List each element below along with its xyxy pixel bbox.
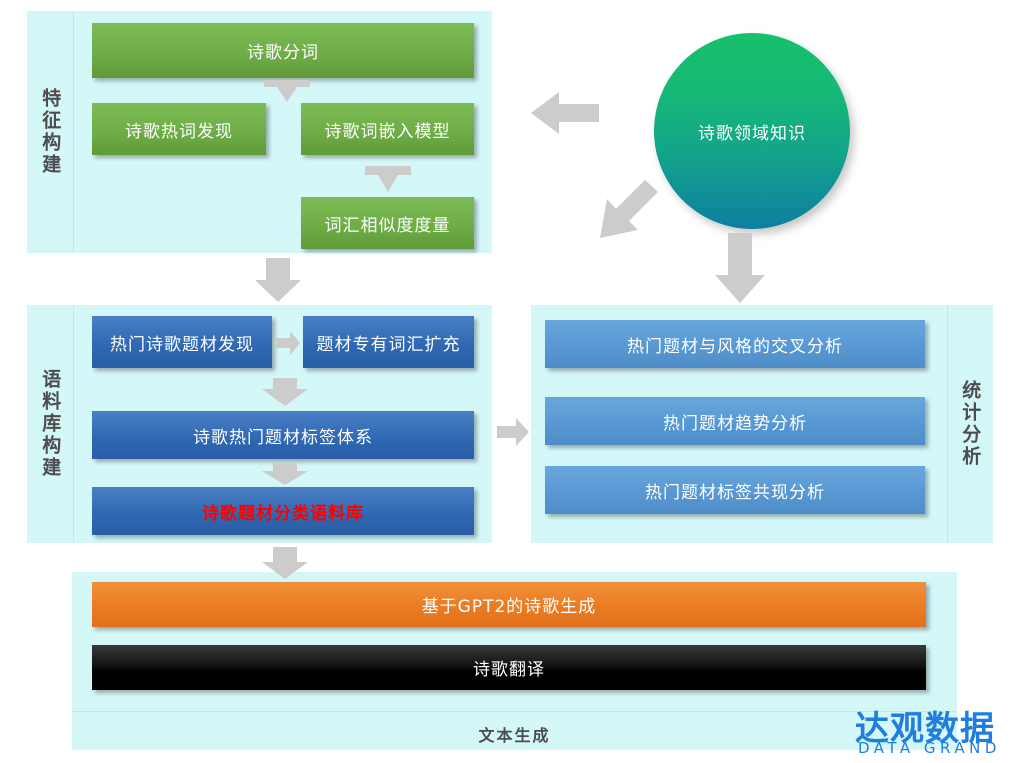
brand-logo-en: DATA GRAND bbox=[858, 739, 1001, 757]
arrow-topic-to-vocab-icon bbox=[276, 331, 300, 355]
box-gpt2-poem-generation[interactable]: 基于GPT2的诗歌生成 bbox=[92, 582, 926, 627]
section-label-generation: 文本生成 bbox=[72, 722, 957, 746]
box-topic-trend-analysis[interactable]: 热门题材趋势分析 bbox=[545, 397, 925, 445]
node-poetry-domain-knowledge-label: 诗歌领域知识 bbox=[698, 119, 806, 144]
box-hot-topic-tag-system[interactable]: 诗歌热门题材标签体系 bbox=[92, 411, 474, 459]
arrow-vocab-to-tagsystem-icon bbox=[262, 378, 308, 406]
arrow-knowledge-to-statistics-icon bbox=[715, 233, 765, 303]
arrow-embedding-to-similarity-icon bbox=[365, 166, 411, 192]
box-topic-tag-cooccurrence-analysis[interactable]: 热门题材标签共现分析 bbox=[545, 466, 925, 514]
section-label-corpus: 语料库构建 bbox=[27, 305, 73, 543]
arrow-tagsystem-to-corpusdb-icon bbox=[262, 463, 308, 485]
arrow-knowledge-to-corpus-icon bbox=[580, 168, 658, 246]
box-word-similarity-metric[interactable]: 词汇相似度度量 bbox=[301, 197, 474, 249]
box-word-embedding-model[interactable]: 诗歌词嵌入模型 bbox=[301, 103, 474, 155]
box-topic-classification-corpus[interactable]: 诗歌题材分类语料库 bbox=[92, 487, 474, 535]
arrow-knowledge-to-feature-icon bbox=[531, 92, 599, 134]
section-label-statistics: 统计分析 bbox=[947, 305, 993, 543]
section-label-feature: 特征构建 bbox=[27, 11, 73, 253]
arrow-corpus-to-generation-icon bbox=[262, 547, 308, 579]
box-poem-segmentation[interactable]: 诗歌分词 bbox=[92, 23, 474, 78]
arrow-fenci-to-embedding-icon bbox=[264, 80, 310, 102]
box-hot-poem-topic-discovery[interactable]: 热门诗歌题材发现 bbox=[92, 316, 272, 368]
arrow-feature-to-corpus-icon bbox=[255, 258, 301, 302]
box-topic-style-cross-analysis[interactable]: 热门题材与风格的交叉分析 bbox=[545, 320, 925, 368]
box-topic-specific-vocab-expansion[interactable]: 题材专有词汇扩充 bbox=[303, 316, 474, 368]
arrow-corpus-to-statistics-icon bbox=[497, 418, 529, 446]
panel-feature-divider bbox=[73, 11, 74, 253]
box-poem-translation[interactable]: 诗歌翻译 bbox=[92, 645, 926, 690]
panel-generation-divider bbox=[72, 711, 957, 712]
panel-corpus-divider bbox=[73, 305, 74, 543]
box-hot-word-discovery[interactable]: 诗歌热词发现 bbox=[92, 103, 266, 155]
diagram-canvas: 特征构建 诗歌分词 诗歌热词发现 诗歌词嵌入模型 词汇相似度度量 语料库构建 热… bbox=[0, 0, 1024, 763]
node-poetry-domain-knowledge[interactable]: 诗歌领域知识 bbox=[654, 33, 850, 229]
